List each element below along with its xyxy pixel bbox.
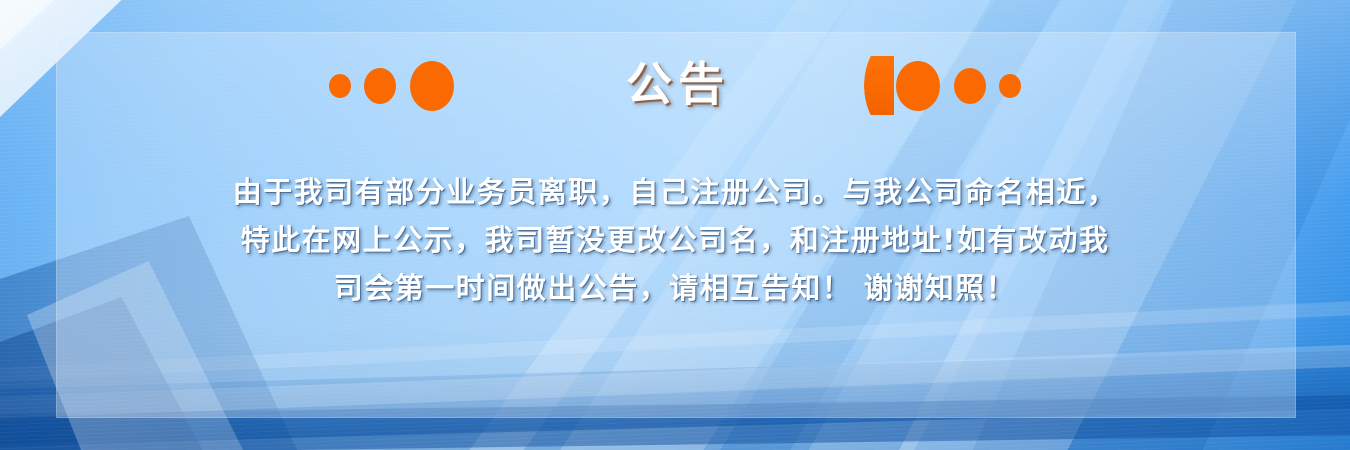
title-banner-inner: 公告 (325, 48, 1025, 124)
page-title: 公告 (325, 56, 1025, 115)
notice-line-1: 由于我司有部分业务员离职，自己注册公司。与我公司命名相近， (0, 168, 1350, 216)
announcement-banner: 公告 由于我司有部分业务员离职，自己注册公司。与我公司命名相近， 特此在网上公示… (0, 0, 1350, 450)
notice-line-2: 特此在网上公示，我司暂没更改公司名，和注册地址!如有改动我 (0, 216, 1350, 264)
notice-line-3: 司会第一时间做出公告，请相互告知！ 谢谢知照！ (0, 264, 1350, 312)
title-banner: 公告 (0, 48, 1350, 124)
notice-text: 由于我司有部分业务员离职，自己注册公司。与我公司命名相近， 特此在网上公示，我司… (0, 168, 1350, 312)
